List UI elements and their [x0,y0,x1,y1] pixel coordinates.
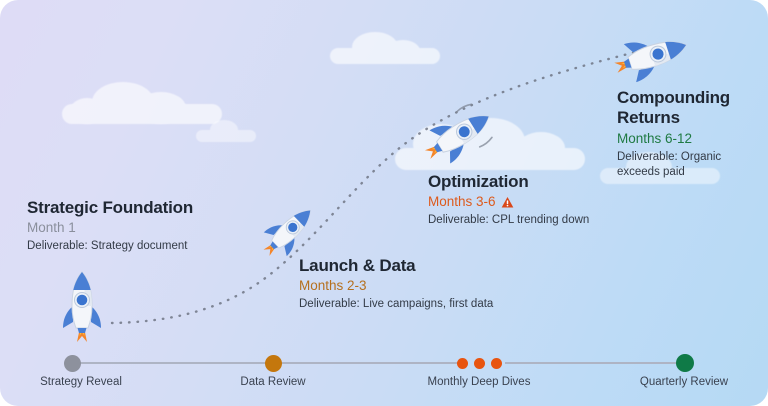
timeline-axis: Strategy Reveal Data Review Monthly Deep… [0,352,768,406]
milestone-title-line2: Returns [617,108,755,128]
milestone-title: Strategic Foundation [27,198,267,218]
timeline-label-strategy-reveal: Strategy Reveal [40,376,122,388]
rocket-strategic-foundation [55,268,109,344]
timeline-segment-3 [505,362,685,364]
milestone-period-label: Month 1 [27,220,76,237]
timeline-dot-data-review[interactable] [265,355,282,372]
milestone-period: Months 2-3 [299,278,559,295]
milestone-period-label: Months 6-12 [617,131,692,148]
milestone-period: Months 3-6 [428,194,668,211]
timeline-segment-2 [273,362,458,364]
milestone-strategic-foundation: Strategic Foundation Month 1 Deliverable… [27,198,267,254]
milestone-compounding-returns: Compounding Returns Months 6-12 Delivera… [617,88,755,180]
milestone-title-line1: Compounding [617,88,755,108]
milestone-deliverable: Deliverable: Strategy document [27,239,267,254]
gradient-background: Strategic Foundation Month 1 Deliverable… [0,0,768,406]
milestone-period: Month 1 [27,220,267,237]
timeline-dot-deep-dive-3[interactable] [491,358,502,369]
cloud-top-left [62,78,222,124]
timeline-label-monthly-deep-dives: Monthly Deep Dives [428,376,531,388]
milestone-period: Months 6-12 [617,131,755,148]
timeline-dot-strategy-reveal[interactable] [64,355,81,372]
infographic-canvas: Strategic Foundation Month 1 Deliverable… [0,0,768,406]
warning-triangle-icon [501,196,514,209]
milestone-title: Launch & Data [299,256,559,276]
timeline-dot-deep-dive-2[interactable] [474,358,485,369]
timeline-label-quarterly-review: Quarterly Review [640,376,728,388]
milestone-launch-data: Launch & Data Months 2-3 Deliverable: Li… [299,256,559,312]
milestone-deliverable: Deliverable: CPL trending down [428,213,668,228]
milestone-period-label: Months 3-6 [428,194,496,211]
milestone-optimization: Optimization Months 3-6 Deliverable: CPL… [428,172,668,228]
cloud-small-left [196,120,256,142]
milestone-deliverable: Deliverable: Live campaigns, first data [299,297,559,312]
timeline-segment-1 [75,362,273,364]
milestone-period-label: Months 2-3 [299,278,367,295]
milestone-deliverable: Deliverable: Organic exceeds paid [617,150,755,180]
timeline-dot-quarterly-review[interactable] [676,354,694,372]
timeline-label-data-review: Data Review [240,376,305,388]
timeline-dot-deep-dive-1[interactable] [457,358,468,369]
cloud-top-center [330,30,440,64]
